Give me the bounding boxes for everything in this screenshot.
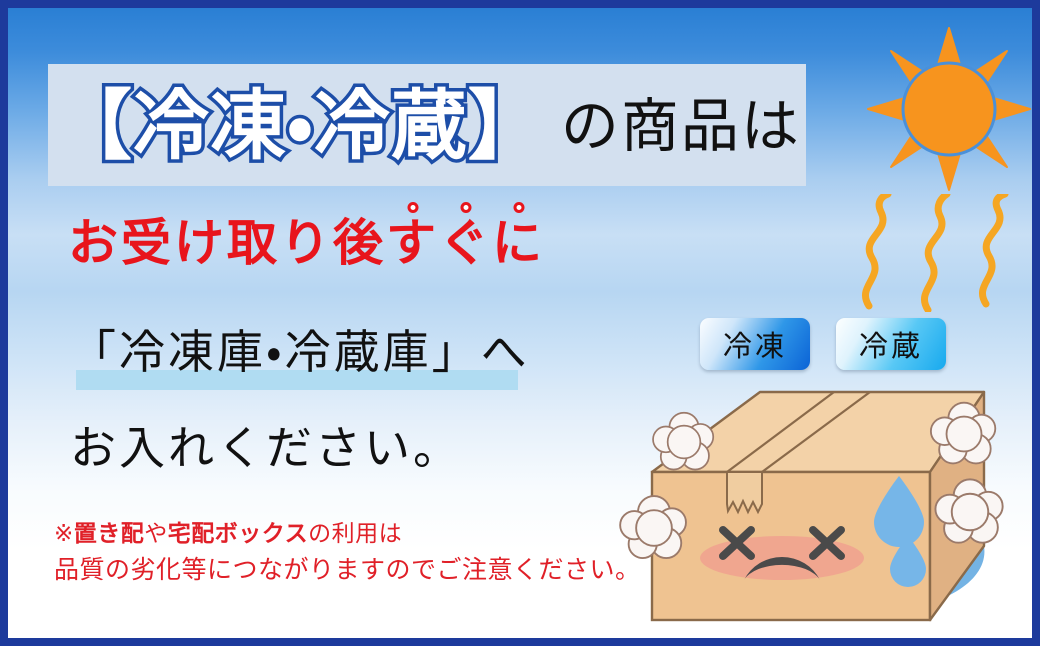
badge-frozen: 冷凍 — [700, 318, 810, 370]
headline-row: 【冷凍・冷蔵】 の商品は — [56, 68, 856, 186]
fine-print-bold-delivery-box: 宅配ボックス — [168, 520, 308, 546]
sad-cardboard-box-icon — [612, 380, 1024, 630]
highlight-line: 「冷凍庫・冷蔵庫」へ — [70, 316, 530, 382]
badge-chilled-label: 冷蔵 — [859, 323, 923, 365]
emphasis-dotted-char-3: に — [492, 216, 545, 271]
poster-root: 【冷凍・冷蔵】 の商品は お受け取り後すぐに 「冷凍庫・冷蔵庫」へ お入れくださ… — [0, 0, 1040, 646]
fine-print-line-1: ※置き配や宅配ボックスの利用は — [54, 516, 641, 551]
fine-print-tail: の利用は — [308, 520, 402, 546]
emphasis-line: お受け取り後すぐに — [68, 216, 545, 271]
headline-suffix-text: の商品は — [561, 98, 801, 156]
highlight-line-text: 「冷凍庫・冷蔵庫」へ — [70, 326, 530, 378]
fine-print-mid: や — [144, 520, 168, 546]
badge-chilled: 冷蔵 — [836, 318, 946, 370]
heat-wave-icon — [836, 194, 1026, 312]
emphasis-prefix: お受け取り後 — [68, 215, 386, 271]
fine-print-line-2: 品質の劣化等につながりますのでご注意ください。 — [54, 551, 641, 589]
badge-frozen-label: 冷凍 — [723, 323, 787, 365]
sun-icon — [864, 24, 1034, 194]
emphasis-dotted-char-1: す — [386, 216, 439, 271]
fine-print-mark: ※ — [54, 520, 74, 546]
fine-print-bold-okihai: 置き配 — [74, 520, 145, 546]
fine-print-block: ※置き配や宅配ボックスの利用は 品質の劣化等につながりますのでご注意ください。 — [54, 516, 641, 589]
emphasis-dotted-char-2: ぐ — [439, 216, 492, 271]
instruction-line-text: お入れください。 — [70, 422, 462, 474]
instruction-line: お入れください。 — [70, 412, 462, 478]
headline-bracketed-text: 【冷凍・冷蔵】 — [56, 89, 545, 165]
